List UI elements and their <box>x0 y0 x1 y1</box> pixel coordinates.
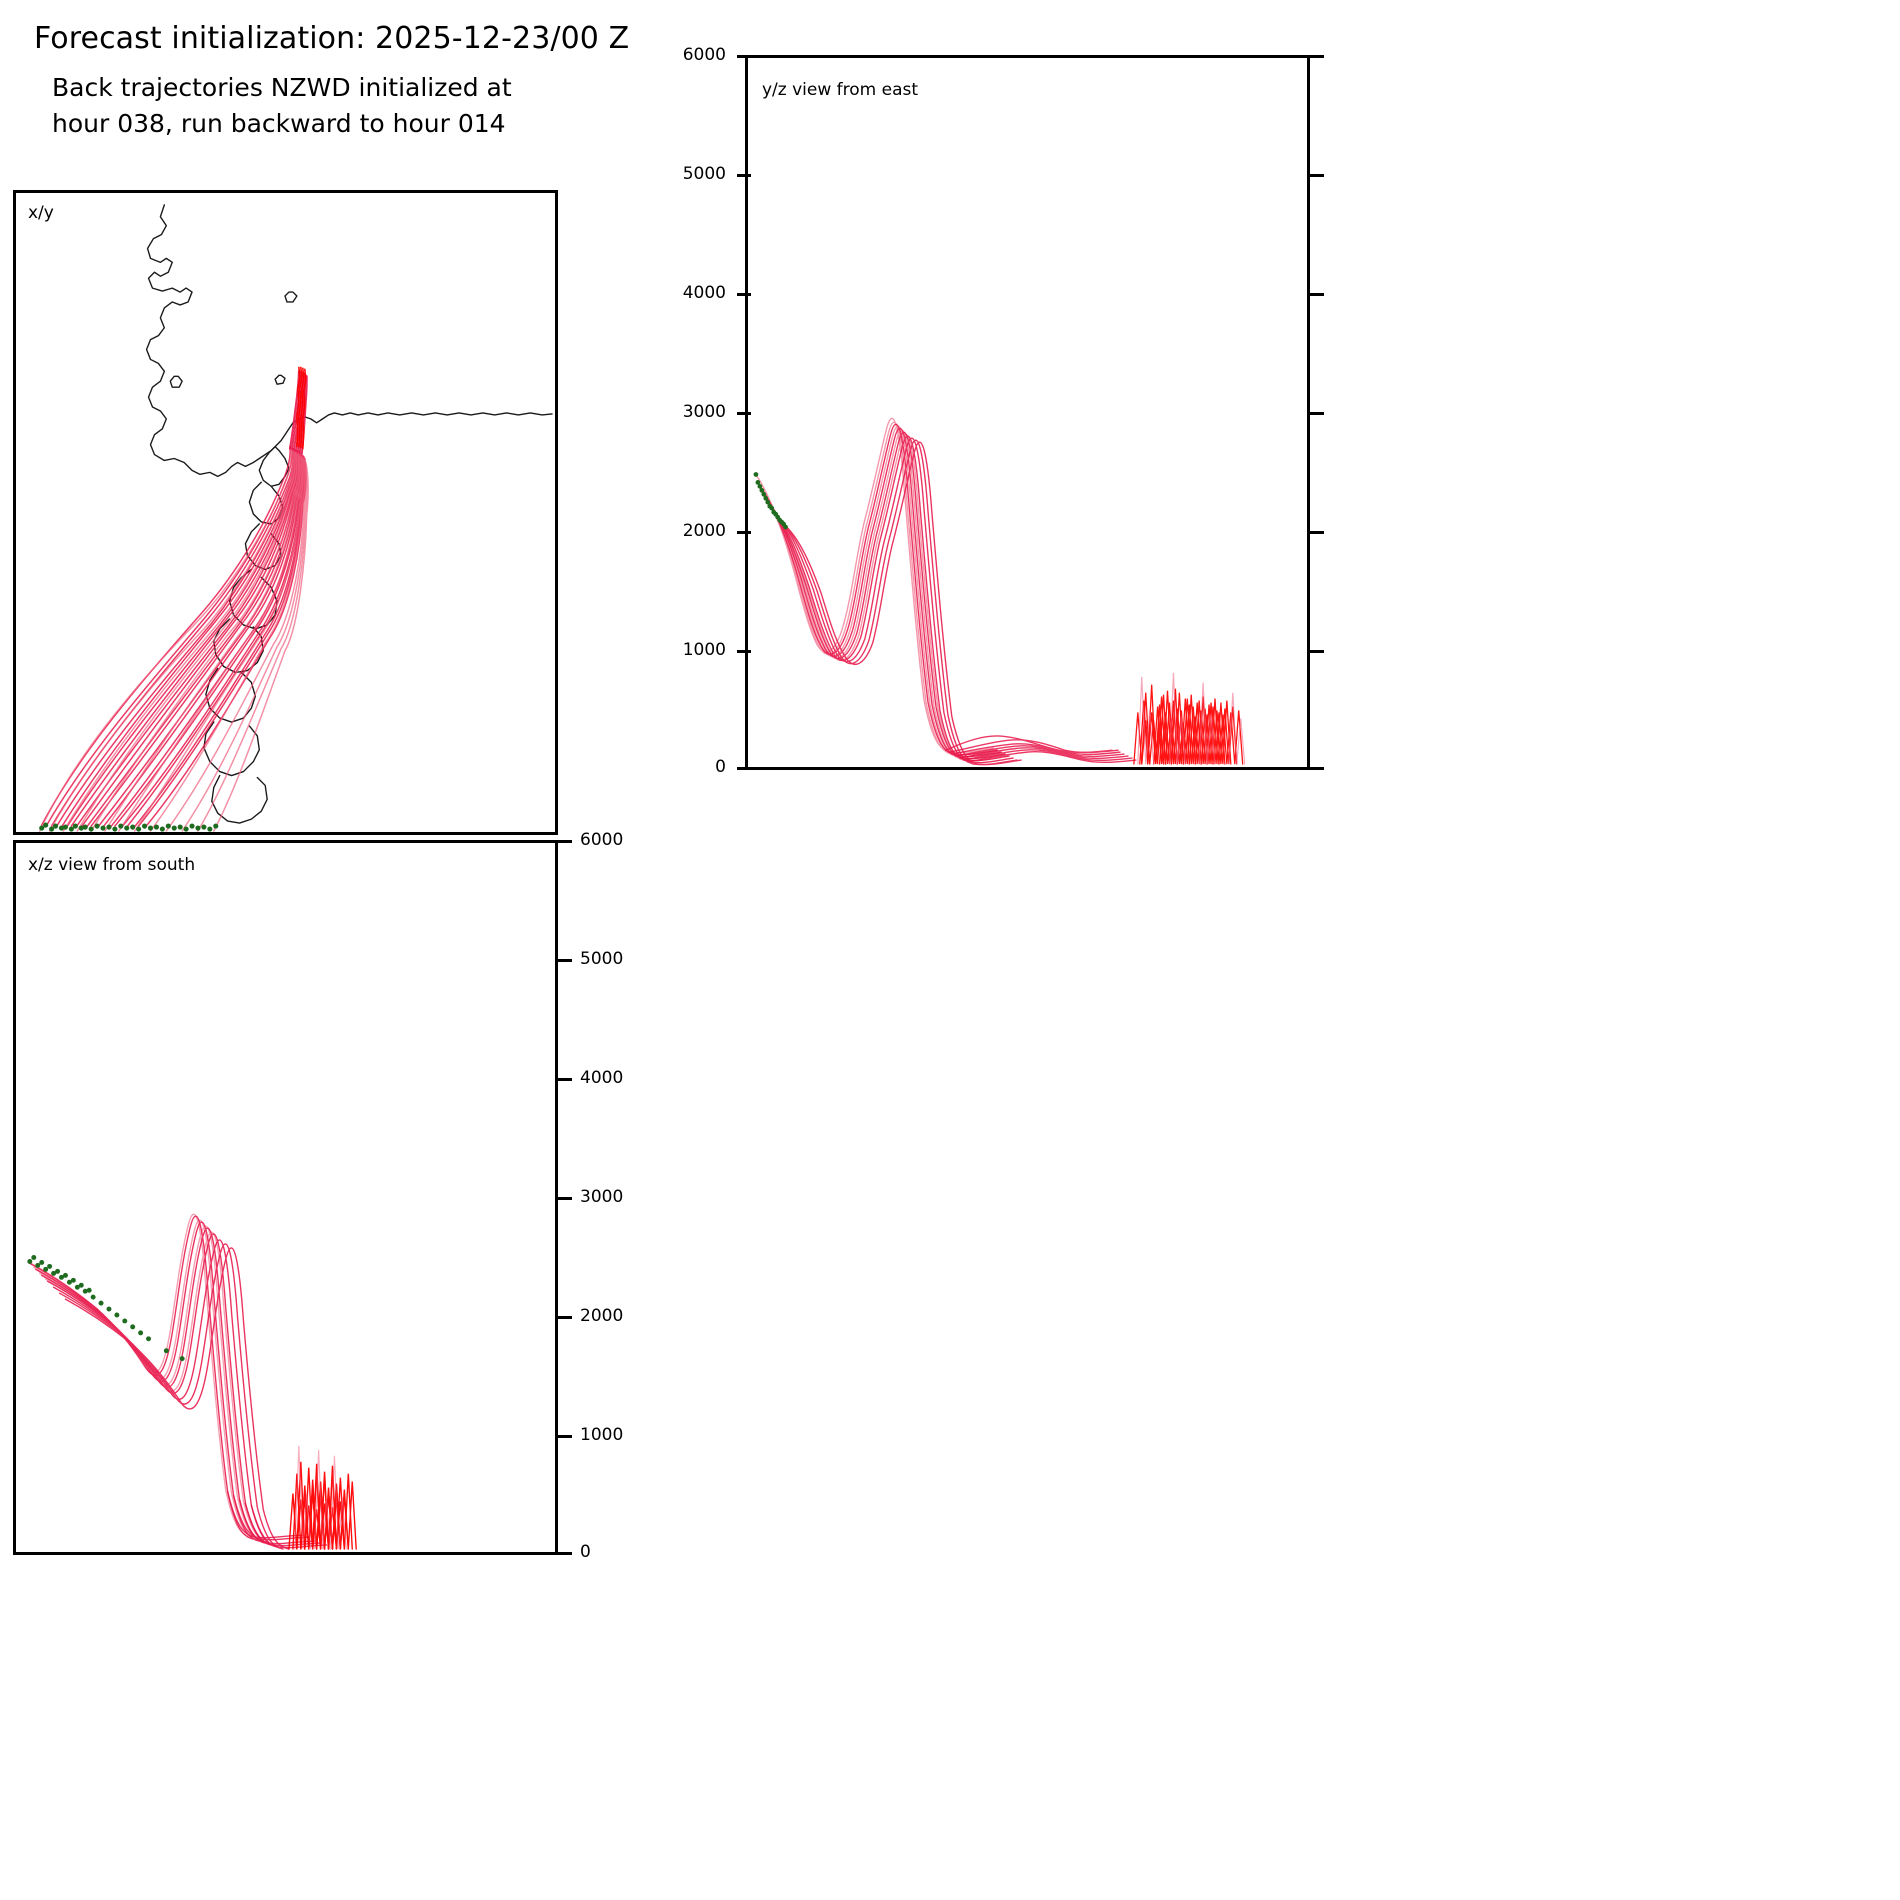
xz-tick-1000 <box>558 1435 572 1438</box>
panel-yz-label: y/z view from east <box>762 80 918 100</box>
yz-ticklabel-4000: 4000 <box>683 285 726 302</box>
panel-xy-label: x/y <box>28 203 54 223</box>
yz-right-tick-5000 <box>1310 174 1324 177</box>
panel-xz-label: x/z view from south <box>28 855 195 875</box>
figure-subtitle-line2: hour 038, run backward to hour 014 <box>52 106 512 142</box>
xz-ticklabel-0: 0 <box>580 1544 591 1561</box>
xz-tick-6000 <box>558 840 572 843</box>
xz-plot-svg <box>16 843 555 1552</box>
yz-right-tick-3000 <box>1310 412 1324 415</box>
page-title: Forecast initialization: 2025-12-23/00 Z <box>34 22 629 56</box>
panel-yz-section: y/z view from east <box>745 55 1310 770</box>
yz-right-tick-4000 <box>1310 293 1324 296</box>
panel-xz-section: x/z view from south <box>13 840 558 1555</box>
xz-ticklabel-5000: 5000 <box>580 951 623 968</box>
xz-tick-5000 <box>558 959 572 962</box>
trajectory-bundle-xy <box>40 367 308 831</box>
xz-tick-0 <box>558 1552 572 1555</box>
xz-ticklabel-1000: 1000 <box>580 1427 623 1444</box>
yz-right-tick-axis <box>1310 55 1330 770</box>
xz-tick-3000 <box>558 1197 572 1200</box>
figure-subtitle-line1: Back trajectories NZWD initialized at <box>52 70 512 106</box>
yz-tick-2000 <box>737 531 751 534</box>
trajectory-bundle-xz <box>28 1214 356 1549</box>
yz-ticklabel-0: 0 <box>715 759 726 776</box>
xz-ticklabel-6000: 6000 <box>580 832 623 849</box>
figure-subtitle: Back trajectories NZWD initialized at ho… <box>52 70 512 142</box>
xy-plot-svg <box>16 193 555 832</box>
yz-ticklabel-5000: 5000 <box>683 166 726 183</box>
xz-ticklabel-2000: 2000 <box>580 1308 623 1325</box>
yz-altitude-axis: 6000 5000 4000 3000 2000 1000 0 <box>680 55 748 770</box>
yz-tick-0 <box>737 767 751 770</box>
yz-tick-1000 <box>737 650 751 653</box>
yz-ticklabel-3000: 3000 <box>683 404 726 421</box>
trajectory-bundle-yz <box>756 418 1245 764</box>
yz-tick-4000 <box>737 293 751 296</box>
xz-tick-2000 <box>558 1316 572 1319</box>
yz-right-tick-2000 <box>1310 531 1324 534</box>
yz-right-tick-6000 <box>1310 55 1324 58</box>
panel-xy-map: x/y <box>13 190 558 835</box>
yz-ticklabel-6000: 6000 <box>683 47 726 64</box>
start-markers-yz <box>754 472 788 529</box>
xz-altitude-axis: 6000 5000 4000 3000 2000 1000 0 <box>558 840 648 1555</box>
yz-tick-3000 <box>737 412 751 415</box>
xz-tick-4000 <box>558 1078 572 1081</box>
xz-ticklabel-3000: 3000 <box>580 1189 623 1206</box>
yz-right-tick-0 <box>1310 767 1324 770</box>
yz-ticklabel-2000: 2000 <box>683 523 726 540</box>
yz-ticklabel-1000: 1000 <box>683 642 726 659</box>
start-markers-xz <box>27 1255 184 1361</box>
yz-tick-6000 <box>737 55 751 58</box>
yz-tick-5000 <box>737 174 751 177</box>
yz-right-tick-1000 <box>1310 650 1324 653</box>
yz-plot-svg <box>748 58 1307 767</box>
figure-canvas: Forecast initialization: 2025-12-23/00 Z… <box>0 0 1900 1900</box>
xz-ticklabel-4000: 4000 <box>580 1070 623 1087</box>
